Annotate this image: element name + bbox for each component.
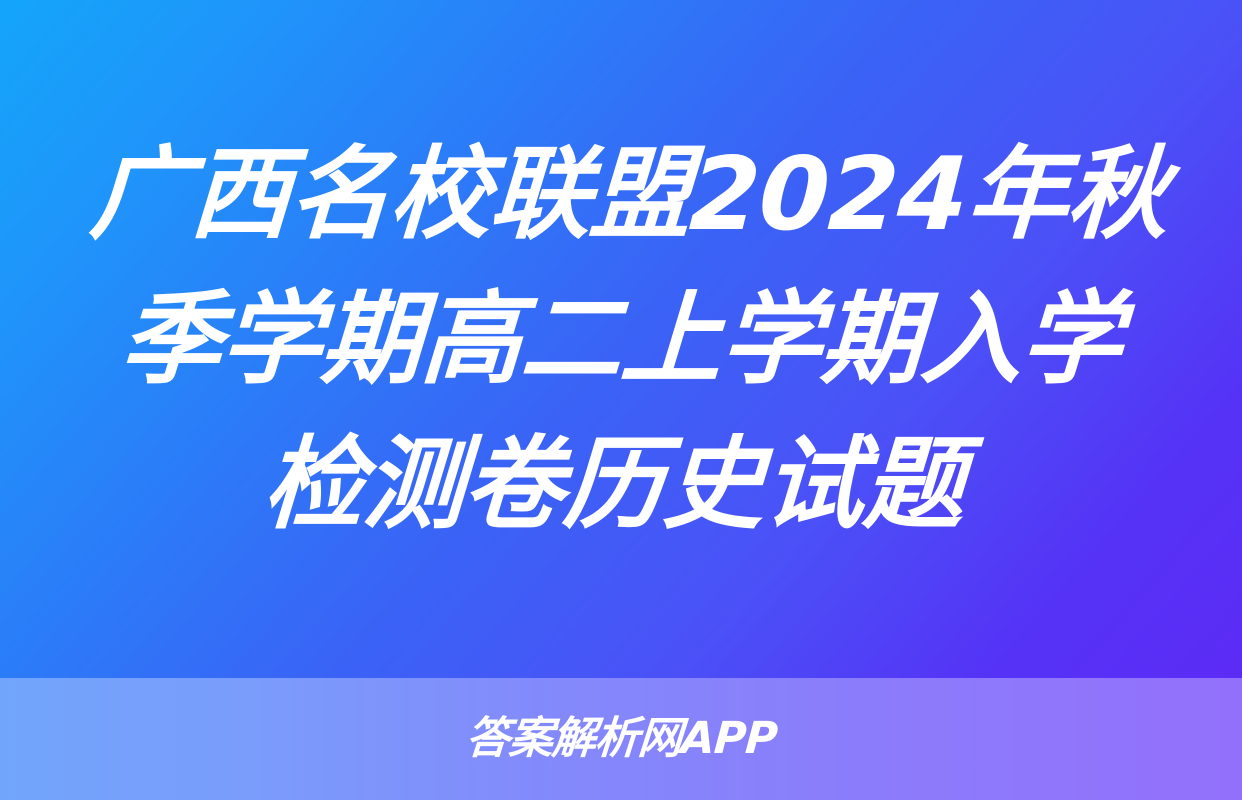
watermark-label: 答案解析网APP (464, 717, 778, 761)
hero-gradient-banner: 广西名校联盟2024年秋季学期高二上学期入学检测卷历史试题 (0, 0, 1242, 678)
page-title: 广西名校联盟2024年秋季学期高二上学期入学检测卷历史试题 (65, 122, 1178, 557)
watermark-band: 答案解析网APP (0, 678, 1242, 800)
poster-root: 广西名校联盟2024年秋季学期高二上学期入学检测卷历史试题 答案解析网APP (0, 0, 1242, 800)
